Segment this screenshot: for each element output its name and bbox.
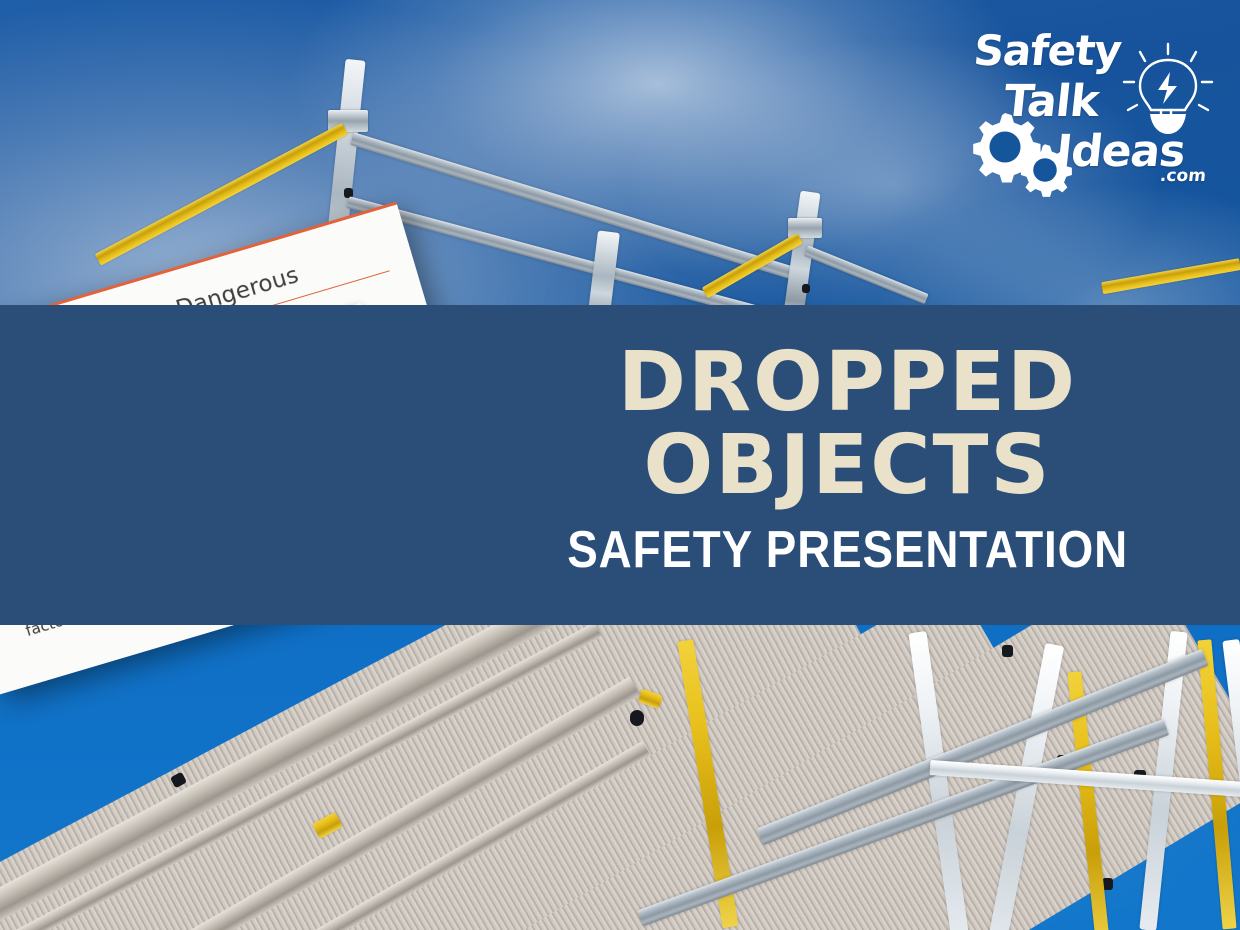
lightbulb-icon xyxy=(1120,42,1216,146)
logo-domain-suffix: .com xyxy=(1159,166,1207,186)
pole-hole xyxy=(802,284,810,293)
page-subtitle: SAFETY PRESENTATION xyxy=(567,520,1128,580)
title-banner: DROPPED OBJECTS SAFETY PRESENTATION xyxy=(0,305,1240,625)
page-title-line2: OBJECTS xyxy=(644,427,1052,506)
page-title-line1: DROPPED xyxy=(618,344,1077,423)
gear-small-icon xyxy=(1017,142,1073,198)
title-banner-content: DROPPED OBJECTS SAFETY PRESENTATION xyxy=(455,305,1240,625)
brand-logo[interactable]: Safety Talk Ideas .com xyxy=(960,14,1230,194)
poster-canvas: Dropped Objects are Dangerous Small obje… xyxy=(0,0,1240,930)
pole-hole xyxy=(1002,645,1013,657)
logo-line-safety: Safety xyxy=(971,26,1123,75)
bracket-bolt xyxy=(630,710,644,726)
